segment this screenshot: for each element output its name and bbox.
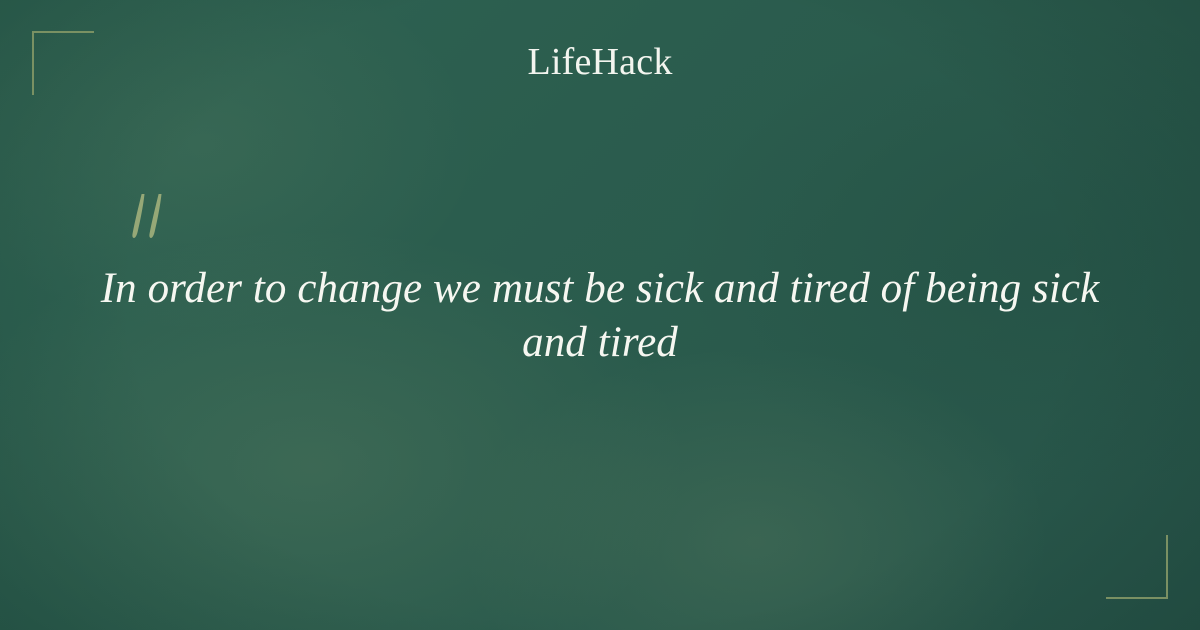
corner-bracket-bottom-right-icon <box>1106 535 1168 599</box>
quote-card: LifeHack In order to change we must be s… <box>0 0 1200 630</box>
quote-text: In order to change we must be sick and t… <box>100 262 1100 370</box>
quotation-mark-icon <box>128 192 188 248</box>
quote-container: In order to change we must be sick and t… <box>100 262 1100 370</box>
brand-logo: LifeHack <box>0 38 1200 86</box>
